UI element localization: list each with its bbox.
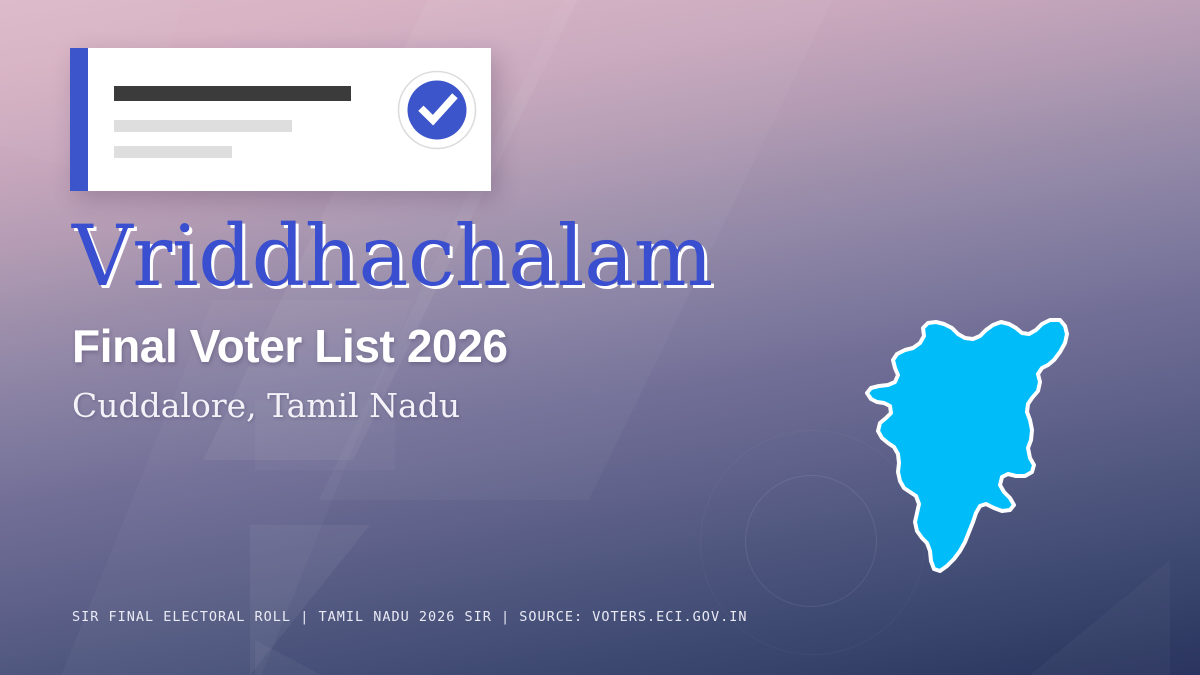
poster-canvas: Vriddhachalam Final Voter List 2026 Cudd…	[0, 0, 1200, 675]
page-title: Vriddhachalam	[72, 214, 932, 298]
decorative-triangle-2	[255, 640, 350, 675]
document-line-placeholder-bar-1	[114, 120, 292, 132]
verified-check-icon	[397, 70, 477, 150]
document-title-placeholder-bar	[114, 86, 351, 101]
region-subtitle: Cuddalore, Tamil Nadu	[72, 388, 932, 424]
document-card-accent-bar	[70, 48, 88, 191]
document-line-placeholder-bar-2	[114, 146, 232, 158]
decorative-triangle-1	[250, 525, 370, 675]
footer-source-line: SIR FINAL ELECTORAL ROLL | TAMIL NADU 20…	[72, 609, 747, 625]
list-subtitle: Final Voter List 2026	[72, 322, 932, 370]
headline-block: Vriddhachalam Final Voter List 2026 Cudd…	[72, 214, 932, 425]
tamil-nadu-map-icon	[862, 312, 1077, 580]
decorative-circle-inner	[745, 475, 877, 607]
document-card	[70, 48, 491, 191]
document-card-body	[88, 48, 491, 191]
